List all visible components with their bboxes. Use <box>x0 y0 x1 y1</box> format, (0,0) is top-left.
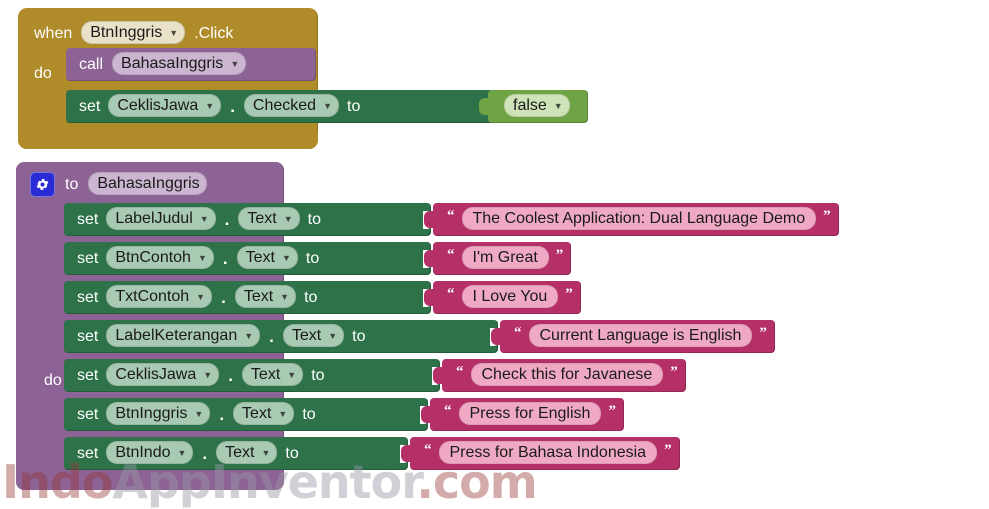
text-block-4[interactable]: “ Check this for Javanese ” <box>442 359 686 392</box>
setter-property-dropdown[interactable]: Checked ▼ <box>244 94 339 117</box>
chevron-down-icon: ▼ <box>230 60 239 69</box>
chevron-down-icon: ▼ <box>196 293 205 302</box>
value-plug <box>479 98 489 115</box>
event-block-tail <box>18 131 318 149</box>
setter-block-labelketerangan-text[interactable]: set LabelKeterangan ▼ . Text ▼ to <box>64 320 498 353</box>
chevron-down-icon: ▼ <box>200 215 209 224</box>
to-keyword: to <box>352 329 365 345</box>
separator-dot: . <box>222 250 229 267</box>
block-notch <box>82 90 108 96</box>
setter-component-label: BtnInggris <box>115 406 187 422</box>
block-notch <box>80 281 106 287</box>
text-value-field[interactable]: Press for English <box>459 402 602 425</box>
block-notch <box>80 203 106 209</box>
block-notch <box>80 320 106 326</box>
value-plug <box>421 406 431 423</box>
setter-component-dropdown[interactable]: LabelKeterangan ▼ <box>106 324 260 347</box>
close-quote-icon: ” <box>670 365 678 380</box>
setter-property-label: Text <box>244 289 273 305</box>
setter-component-dropdown[interactable]: LabelJudul ▼ <box>106 207 215 230</box>
chevron-down-icon: ▼ <box>554 102 563 111</box>
value-plug <box>424 289 434 306</box>
setter-property-label: Text <box>247 211 276 227</box>
setter-property-dropdown[interactable]: Text ▼ <box>216 441 277 464</box>
setter-component-label: BtnContoh <box>115 250 191 266</box>
setter-block-btncontoh-text[interactable]: set BtnContoh ▼ . Text ▼ to <box>64 242 431 275</box>
chevron-down-icon: ▼ <box>194 410 203 419</box>
do-keyword: do <box>44 373 62 389</box>
setter-property-dropdown[interactable]: Text ▼ <box>235 285 296 308</box>
set-keyword: set <box>77 329 98 345</box>
open-quote-icon: “ <box>424 443 432 458</box>
open-quote-icon: “ <box>456 365 464 380</box>
to-keyword: to <box>65 177 78 193</box>
text-block-5[interactable]: “ Press for English ” <box>430 398 624 431</box>
separator-dot: . <box>227 367 234 384</box>
value-plug <box>424 250 434 267</box>
logic-false-block[interactable]: false ▼ <box>488 90 588 123</box>
to-keyword: to <box>285 446 298 462</box>
setter-property-dropdown[interactable]: Text ▼ <box>242 363 303 386</box>
setter-property-label: Checked <box>253 98 316 114</box>
logic-value-dropdown[interactable]: false ▼ <box>504 94 570 117</box>
close-quote-icon: ” <box>823 209 831 224</box>
setter-component-label: LabelJudul <box>115 211 192 227</box>
setter-property-label: Text <box>246 250 275 266</box>
set-keyword: set <box>77 446 98 462</box>
value-plug <box>424 211 434 228</box>
procedure-block-foot <box>16 470 284 490</box>
text-value-field[interactable]: Current Language is English <box>529 324 753 347</box>
separator-dot: . <box>218 406 225 423</box>
setter-component-dropdown[interactable]: BtnInggris ▼ <box>106 402 210 425</box>
open-quote-icon: “ <box>447 287 455 302</box>
text-block-3[interactable]: “ Current Language is English ” <box>500 320 775 353</box>
setter-property-dropdown[interactable]: Text ▼ <box>238 207 299 230</box>
setter-block-txtcontoh-text[interactable]: set TxtContoh ▼ . Text ▼ to <box>64 281 431 314</box>
separator-dot: . <box>268 328 275 345</box>
value-plug <box>401 445 411 462</box>
text-value-field[interactable]: I'm Great <box>462 246 549 269</box>
text-value-field[interactable]: Check this for Javanese <box>471 363 664 386</box>
chevron-down-icon: ▼ <box>323 102 332 111</box>
close-quote-icon: ” <box>565 287 573 302</box>
close-quote-icon: ” <box>664 443 672 458</box>
chevron-down-icon: ▼ <box>278 410 287 419</box>
setter-property-dropdown[interactable]: Text ▼ <box>233 402 294 425</box>
call-procedure-label: BahasaInggris <box>121 56 223 72</box>
close-quote-icon: ” <box>556 248 564 263</box>
to-keyword: to <box>302 407 315 423</box>
text-block-6[interactable]: “ Press for Bahasa Indonesia ” <box>410 437 680 470</box>
setter-property-label: Text <box>292 328 321 344</box>
chevron-down-icon: ▼ <box>178 449 187 458</box>
to-keyword: to <box>347 99 360 115</box>
event-component-dropdown[interactable]: BtnInggris ▼ <box>81 21 185 44</box>
open-quote-icon: “ <box>514 326 522 341</box>
setter-component-label: LabelKeterangan <box>115 328 237 344</box>
block-notch <box>80 398 106 404</box>
chevron-down-icon: ▼ <box>203 371 212 380</box>
setter-block-btninggris-text[interactable]: set BtnInggris ▼ . Text ▼ to <box>64 398 428 431</box>
setter-property-label: Text <box>251 367 280 383</box>
chevron-down-icon: ▼ <box>328 332 337 341</box>
logic-value-label: false <box>513 98 547 114</box>
set-keyword: set <box>79 99 100 115</box>
block-notch <box>82 48 108 54</box>
setter-block-ceklisjawa-text[interactable]: set CeklisJawa ▼ . Text ▼ to <box>64 359 440 392</box>
chevron-down-icon: ▼ <box>287 371 296 380</box>
separator-dot: . <box>229 98 236 115</box>
text-block-2[interactable]: “ I Love You ” <box>433 281 581 314</box>
to-keyword: to <box>306 251 319 267</box>
chevron-down-icon: ▼ <box>280 293 289 302</box>
when-keyword: when <box>34 26 72 42</box>
text-block-0[interactable]: “ The Coolest Application: Dual Language… <box>433 203 839 236</box>
setter-block-btnindo-text[interactable]: set BtnIndo ▼ . Text ▼ to <box>64 437 408 470</box>
to-keyword: to <box>304 290 317 306</box>
setter-component-dropdown[interactable]: CeklisJawa ▼ <box>106 363 219 386</box>
open-quote-icon: “ <box>447 248 455 263</box>
gear-icon[interactable] <box>30 172 55 197</box>
set-keyword: set <box>77 368 98 384</box>
setter-property-dropdown[interactable]: Text ▼ <box>237 246 298 269</box>
open-quote-icon: “ <box>447 209 455 224</box>
procedure-header: to BahasaInggris <box>30 172 207 197</box>
value-plug <box>491 328 501 345</box>
event-header: when BtnInggris ▼ .Click <box>34 22 233 45</box>
set-keyword: set <box>77 212 98 228</box>
close-quote-icon: ” <box>759 326 767 341</box>
setter-block-ceklisjawa-checked[interactable]: set CeklisJawa ▼ . Checked ▼ to <box>66 90 498 123</box>
procedure-name-field[interactable]: BahasaInggris <box>88 172 206 195</box>
chevron-down-icon: ▼ <box>169 29 178 38</box>
setter-component-dropdown[interactable]: TxtContoh ▼ <box>106 285 212 308</box>
close-quote-icon: ” <box>608 404 616 419</box>
setter-property-dropdown[interactable]: Text ▼ <box>283 324 344 347</box>
do-keyword: do <box>34 66 52 82</box>
setter-component-dropdown[interactable]: CeklisJawa ▼ <box>108 94 221 117</box>
blocks-canvas[interactable]: when BtnInggris ▼ .Click do call BahasaI… <box>0 0 989 503</box>
text-value-field[interactable]: Press for Bahasa Indonesia <box>439 441 658 464</box>
setter-component-dropdown[interactable]: BtnContoh ▼ <box>106 246 214 269</box>
chevron-down-icon: ▼ <box>198 254 207 263</box>
setter-component-label: CeklisJawa <box>115 367 196 383</box>
chevron-down-icon: ▼ <box>244 332 253 341</box>
to-keyword: to <box>308 212 321 228</box>
event-name-label: .Click <box>194 26 233 42</box>
separator-dot: . <box>224 211 231 228</box>
open-quote-icon: “ <box>444 404 452 419</box>
separator-dot: . <box>201 445 208 462</box>
text-value-field[interactable]: I Love You <box>462 285 559 308</box>
call-keyword: call <box>79 57 103 73</box>
call-procedure-dropdown[interactable]: BahasaInggris ▼ <box>112 52 246 75</box>
block-notch <box>80 437 106 443</box>
setter-component-label: BtnIndo <box>115 445 170 461</box>
setter-block-labeljudul-text[interactable]: set LabelJudul ▼ . Text ▼ to <box>64 203 431 236</box>
text-value-field[interactable]: The Coolest Application: Dual Language D… <box>462 207 817 230</box>
setter-component-dropdown[interactable]: BtnIndo ▼ <box>106 441 193 464</box>
setter-component-label: CeklisJawa <box>117 98 198 114</box>
chevron-down-icon: ▼ <box>282 254 291 263</box>
set-keyword: set <box>77 251 98 267</box>
chevron-down-icon: ▼ <box>205 102 214 111</box>
value-plug <box>433 367 443 384</box>
setter-component-label: TxtContoh <box>115 289 189 305</box>
procedure-call-block[interactable]: call BahasaInggris ▼ <box>66 48 316 81</box>
setter-property-label: Text <box>225 445 254 461</box>
separator-dot: . <box>220 289 227 306</box>
setter-property-label: Text <box>242 406 271 422</box>
procedure-name-label: BahasaInggris <box>97 176 199 192</box>
event-component-label: BtnInggris <box>90 25 162 41</box>
set-keyword: set <box>77 407 98 423</box>
set-keyword: set <box>77 290 98 306</box>
block-notch <box>80 242 106 248</box>
to-keyword: to <box>311 368 324 384</box>
block-notch <box>80 359 106 365</box>
chevron-down-icon: ▼ <box>262 449 271 458</box>
text-block-1[interactable]: “ I'm Great ” <box>433 242 571 275</box>
chevron-down-icon: ▼ <box>284 215 293 224</box>
